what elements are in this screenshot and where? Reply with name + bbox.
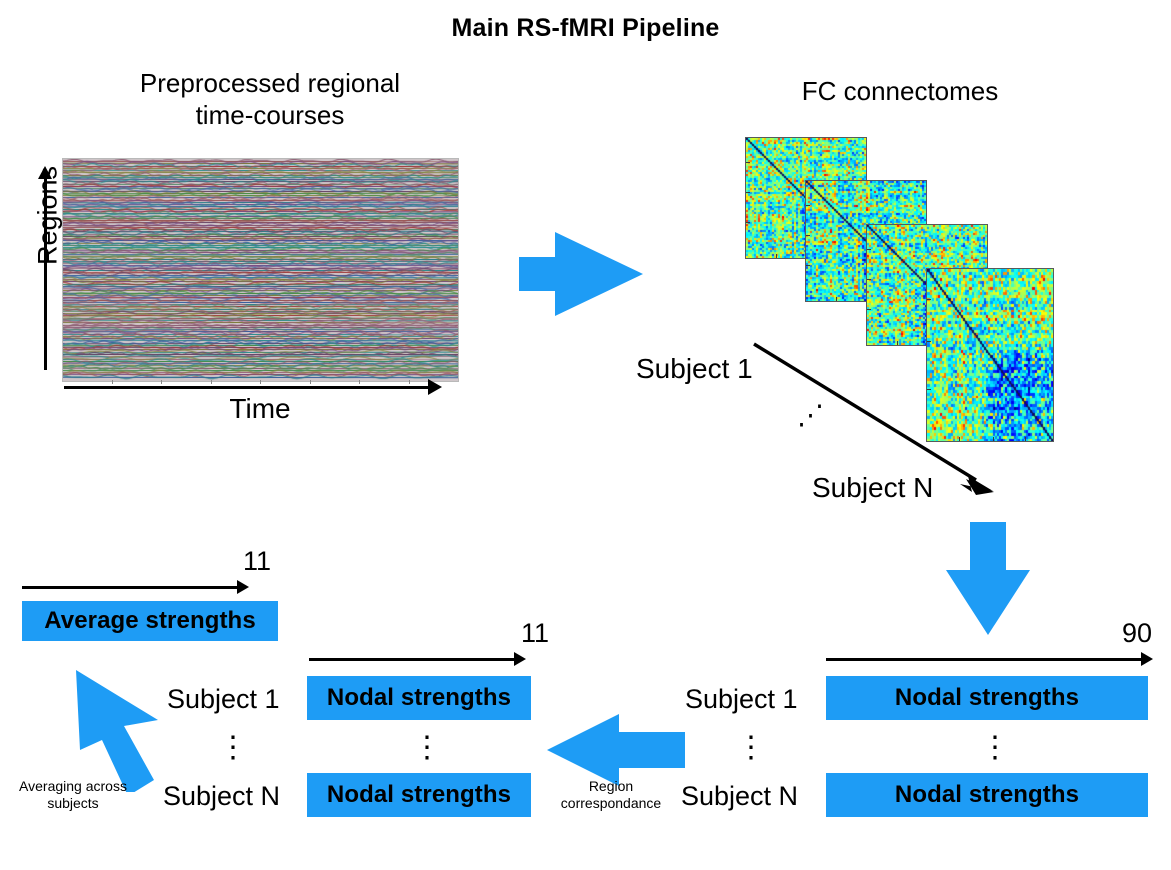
region-correspondance-line1: Region bbox=[542, 778, 680, 795]
nodal-middle-subject-ellipsis: ⋮ bbox=[218, 733, 248, 763]
nodal-middle-dimension-arrow-line bbox=[309, 658, 517, 661]
averaging-line2: subjects bbox=[0, 795, 146, 812]
nodal-right-bar-last: Nodal strengths bbox=[826, 773, 1148, 817]
timecourses-caption-line2: time-courses bbox=[60, 100, 480, 132]
nodal-right-bar-ellipsis: ⋮ bbox=[980, 733, 1010, 763]
averaging-line1: Averaging across bbox=[0, 778, 146, 795]
regions-axis-label: Regions bbox=[33, 141, 64, 291]
timecourses-caption: Preprocessed regional time-courses bbox=[60, 68, 480, 131]
nodal-right-subject-ellipsis: ⋮ bbox=[736, 733, 766, 763]
arrow-region-correspondance-icon bbox=[543, 714, 689, 786]
nodal-right-dimension-arrowhead-icon bbox=[1141, 652, 1153, 666]
averaging-note: Averaging across subjects bbox=[0, 778, 146, 812]
nodal-right-dimension-arrow-line bbox=[826, 658, 1144, 661]
average-strengths-bar: Average strengths bbox=[22, 601, 278, 641]
time-axis-line bbox=[64, 386, 432, 389]
connectome-subject-first-label: Subject 1 bbox=[636, 353, 753, 385]
connectomes-caption: FC connectomes bbox=[700, 76, 1100, 108]
nodal-middle-bar-first: Nodal strengths bbox=[307, 676, 531, 720]
average-dimension-arrow-line bbox=[22, 586, 240, 589]
nodal-middle-bar-last: Nodal strengths bbox=[307, 773, 531, 817]
nodal-middle-dimension-label: 11 bbox=[521, 618, 549, 649]
time-axis-label: Time bbox=[160, 393, 360, 425]
arrow-averaging-across-subjects-icon bbox=[62, 662, 192, 792]
page-title: Main RS-fMRI Pipeline bbox=[0, 14, 1171, 43]
connectome-ellipsis: ⋰ bbox=[797, 400, 825, 431]
nodal-right-dimension-label: 90 bbox=[1122, 618, 1152, 649]
region-correspondance-line2: correspondance bbox=[542, 795, 680, 812]
region-correspondance-note: Region correspondance bbox=[542, 778, 680, 812]
nodal-right-subject-first-label: Subject 1 bbox=[685, 684, 798, 715]
average-dimension-label: 11 bbox=[243, 546, 271, 577]
nodal-middle-bar-ellipsis: ⋮ bbox=[412, 733, 442, 763]
arrow-timecourses-to-connectomes-icon bbox=[519, 226, 649, 322]
timecourses-x-ticks bbox=[62, 380, 458, 385]
timecourses-caption-line1: Preprocessed regional bbox=[60, 68, 480, 100]
connectome-subject-last-label: Subject N bbox=[812, 472, 933, 504]
average-dimension-arrowhead-icon bbox=[237, 580, 249, 594]
time-axis-arrowhead-icon bbox=[428, 379, 442, 395]
nodal-right-subject-last-label: Subject N bbox=[681, 781, 798, 812]
timecourses-plot bbox=[62, 158, 459, 382]
nodal-middle-dimension-arrowhead-icon bbox=[514, 652, 526, 666]
arrow-connectomes-to-nodal-icon bbox=[938, 522, 1038, 642]
nodal-right-bar-first: Nodal strengths bbox=[826, 676, 1148, 720]
